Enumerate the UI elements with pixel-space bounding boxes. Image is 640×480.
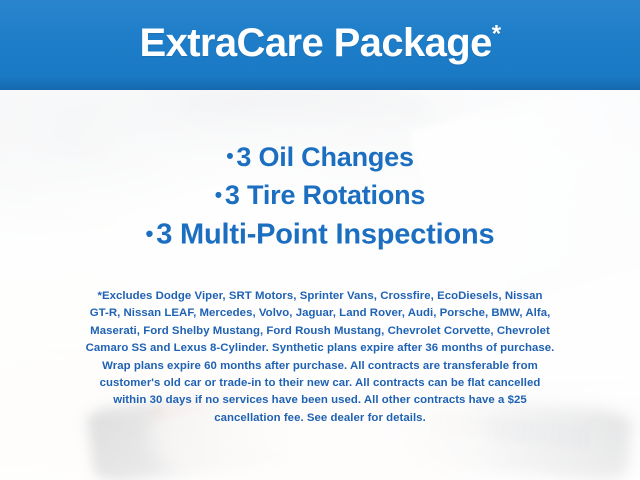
benefits-list: •3 Oil Changes •3 Tire Rotations •3 Mult… [0,138,640,254]
list-item: •3 Tire Rotations [0,176,640,214]
disclaimer-line: Camaro SS and Lexus 8-Cylinder. Syntheti… [26,340,614,357]
page-title: ExtraCare Package* [139,23,500,67]
bullet-dot-icon: • [146,221,157,246]
header-banner: ExtraCare Package* [0,0,640,90]
title-asterisk: * [492,21,501,48]
disclaimer-line: GT-R, Nissan LEAF, Mercedes, Volvo, Jagu… [26,305,614,322]
disclaimer-text: *Excludes Dodge Viper, SRT Motors, Sprin… [26,288,614,427]
list-item-label: 3 Tire Rotations [225,180,425,210]
list-item: •3 Oil Changes [0,138,640,176]
extracare-package-promo: ExtraCare Package* •3 Oil Changes •3 Tir… [0,0,640,480]
disclaimer-line: Wrap plans expire 60 months after purcha… [26,358,614,375]
bullet-dot-icon: • [215,184,225,207]
disclaimer-line: within 30 days if no services have been … [26,392,614,409]
disclaimer-line: customer's old car or trade-in to their … [26,375,614,392]
disclaimer-line: cancellation fee. See dealer for details… [26,410,614,427]
list-item: •3 Multi-Point Inspections [0,215,640,254]
disclaimer-line: *Excludes Dodge Viper, SRT Motors, Sprin… [26,288,614,305]
list-item-label: 3 Multi-Point Inspections [156,219,494,251]
page-title-text: ExtraCare Package [139,21,491,65]
disclaimer-line: Maserati, Ford Shelby Mustang, Ford Rous… [26,323,614,340]
bullet-dot-icon: • [226,145,236,168]
list-item-label: 3 Oil Changes [236,142,413,172]
